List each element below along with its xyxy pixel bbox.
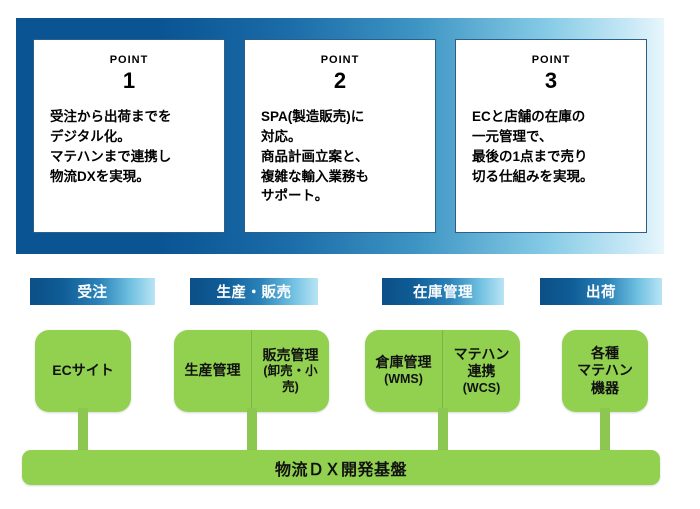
- node-cell-sub: (WMS): [384, 372, 423, 388]
- node-cell-main: 各種 マテハン 機器: [577, 345, 633, 398]
- node-cell-sub: (WCS): [463, 381, 501, 397]
- node-cell: マテハン 連携 (WCS): [442, 330, 520, 412]
- node-production-sales: 生産管理 販売管理 (卸売・小売): [174, 330, 329, 412]
- node-cell-main: マテハン 連携: [454, 346, 510, 381]
- connector-stem: [600, 408, 610, 454]
- node-cell: ECサイト: [35, 330, 131, 412]
- point-label: POINT: [110, 54, 149, 66]
- node-cell-main: ECサイト: [52, 362, 113, 380]
- point-label: POINT: [321, 54, 360, 66]
- node-cell-main: 生産管理: [185, 362, 241, 380]
- connector-stem: [247, 408, 257, 454]
- node-cell-sub: (卸売・小売): [256, 364, 325, 395]
- node-warehouse-material-handling: 倉庫管理 (WMS) マテハン 連携 (WCS): [365, 330, 520, 412]
- platform-bar: 物流ＤＸ開発基盤: [22, 450, 660, 485]
- point-number: 1: [123, 67, 135, 95]
- node-cell-main: 倉庫管理: [376, 354, 432, 372]
- point-body-text: 受注から出荷までを デジタル化。 マテハンまで連携し 物流DXを実現。: [46, 107, 172, 187]
- node-material-handling-equipment: 各種 マテハン 機器: [562, 330, 648, 412]
- point-body-text: ECと店舗の在庫の 一元管理で、 最後の1点まで売り 切る仕組みを実現。: [468, 107, 594, 187]
- stage-banner-seisan-hanbai: 生産・販売: [190, 278, 318, 305]
- point-card: POINT 3 ECと店舗の在庫の 一元管理で、 最後の1点まで売り 切る仕組み…: [455, 39, 647, 233]
- point-body-text: SPA(製造販売)に 対応。 商品計画立案と、 複雑な輸入業務も サポート。: [257, 107, 369, 207]
- connector-stem: [438, 408, 448, 454]
- point-number: 3: [545, 67, 557, 95]
- node-ec-site: ECサイト: [35, 330, 131, 412]
- point-label: POINT: [532, 54, 571, 66]
- diagram-canvas: POINT 1 受注から出荷までを デジタル化。 マテハンまで連携し 物流DXを…: [0, 0, 700, 509]
- points-panel: POINT 1 受注から出荷までを デジタル化。 マテハンまで連携し 物流DXを…: [16, 18, 664, 254]
- stage-banner-zaiko-kanri: 在庫管理: [382, 278, 504, 305]
- point-card: POINT 2 SPA(製造販売)に 対応。 商品計画立案と、 複雑な輸入業務も…: [244, 39, 436, 233]
- node-cell: 倉庫管理 (WMS): [365, 330, 442, 412]
- node-cell: 販売管理 (卸売・小売): [251, 330, 329, 412]
- node-cell: 生産管理: [174, 330, 251, 412]
- connector-stem: [78, 408, 88, 454]
- stage-banner-shukka: 出荷: [540, 278, 662, 305]
- point-number: 2: [334, 67, 346, 95]
- point-card: POINT 1 受注から出荷までを デジタル化。 マテハンまで連携し 物流DXを…: [33, 39, 225, 233]
- node-cell-main: 販売管理: [263, 347, 319, 365]
- node-cell: 各種 マテハン 機器: [562, 330, 648, 412]
- stage-banner-juchu: 受注: [30, 278, 155, 305]
